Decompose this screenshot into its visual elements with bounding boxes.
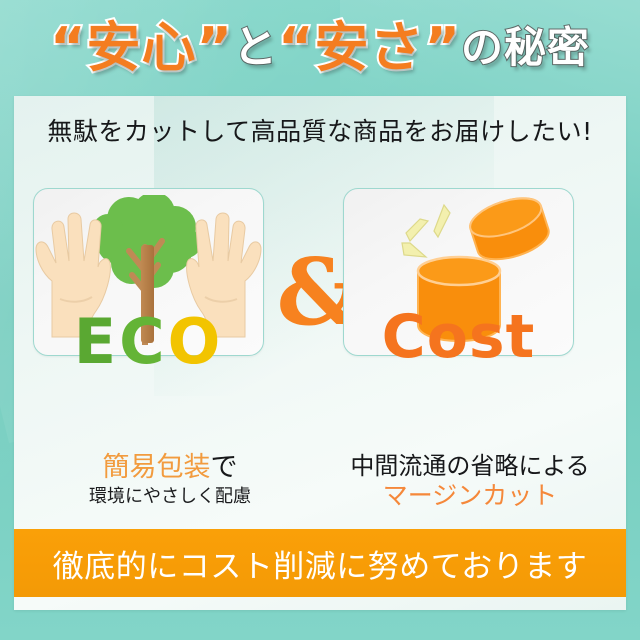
headline-quote-open-1: “ [50,21,87,75]
cost-wordmark: Cost [344,307,573,367]
caption-eco-main-dark: で [211,452,238,483]
headline-word-yasusa: 安さ [314,21,424,75]
promo-banner: “安心”と“安さ”の秘密 無駄をカットして高品質な商品をお届けしたい! [0,0,640,640]
card-cost-illustration: Cost [344,189,573,355]
eco-letter-e: E [74,305,119,378]
eco-wordmark: ECO [34,311,263,373]
caption-eco-sub: 環境にやさしく配慮 [20,486,320,507]
sparkle-icon [396,203,458,263]
caption-cost: 中間流通の省略による マージンカット [320,452,620,511]
eco-letter-c: C [119,305,168,378]
headline-quote-open-2: “ [278,21,315,75]
headline-connector: と [233,26,278,70]
card-eco-illustration: ECO [34,189,263,355]
headline-word-anshin: 安心 [86,21,196,75]
bottom-strip: 徹底的にコスト削減に努めております [14,529,626,597]
caption-eco-main-orange: 簡易包装 [103,452,211,483]
caption-cost-main: 中間流通の省略による [320,452,620,480]
eco-letter-o: O [168,305,224,378]
card-eco: ECO [33,188,264,356]
headline-quote-close-2: ” [424,21,461,75]
card-cost: Cost [343,188,574,356]
subtitle: 無駄をカットして高品質な商品をお届けしたい! [14,112,626,148]
caption-eco: 簡易包装で 環境にやさしく配慮 [20,452,320,507]
headline-quote-close-1: ” [196,21,233,75]
bottom-strip-text: 徹底的にコスト削減に努めております [53,541,588,586]
headline: “安心”と“安さ”の秘密 [0,8,640,88]
caption-cost-sub: マージンカット [320,481,620,511]
headline-tail: の秘密 [461,27,590,69]
caption-eco-main: 簡易包装で [20,452,320,484]
